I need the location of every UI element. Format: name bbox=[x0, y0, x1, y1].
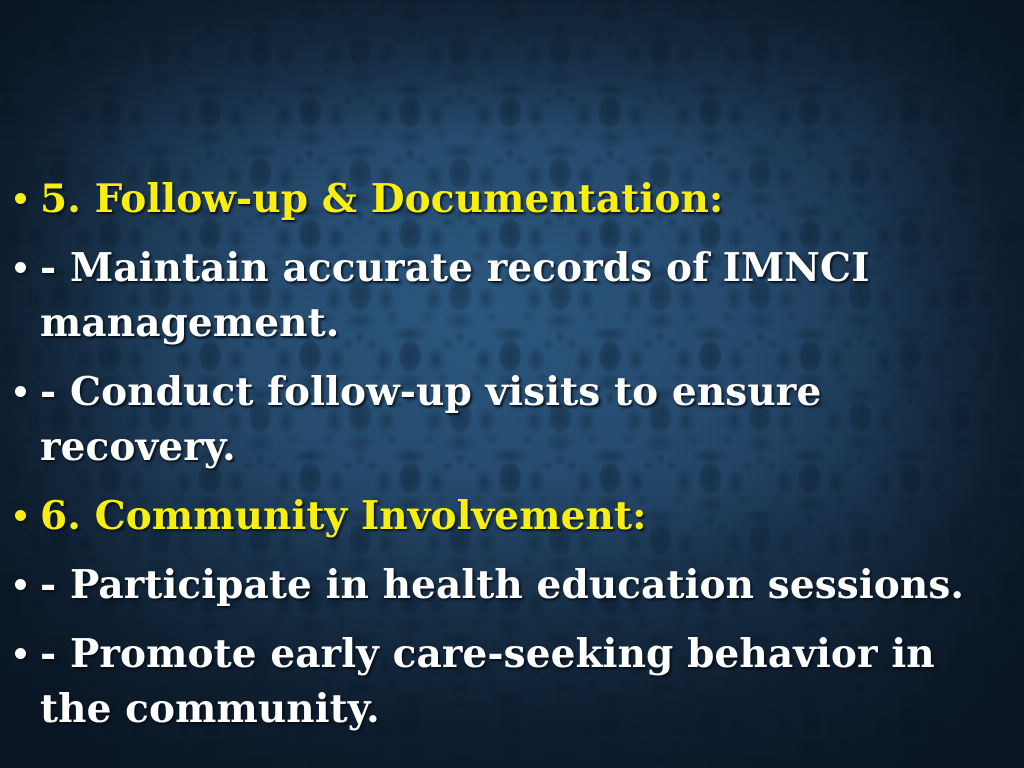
bullet-item-6: - Promote early care-seeking behavior in… bbox=[14, 627, 1014, 737]
bullet-item-2: - Maintain accurate records of IMNCI man… bbox=[14, 241, 1014, 351]
bullet-item-3: - Conduct follow-up visits to ensure rec… bbox=[14, 365, 1014, 475]
bullet-dot-icon bbox=[15, 386, 26, 397]
bullet-dot-icon bbox=[15, 193, 26, 204]
bullet-text: - Maintain accurate records of IMNCI man… bbox=[40, 245, 870, 346]
bullet-dot-icon bbox=[15, 510, 26, 521]
bullet-text: - Participate in health education sessio… bbox=[40, 562, 964, 608]
presentation-slide: 5. Follow-up & Documentation: - Maintain… bbox=[0, 0, 1024, 768]
bullet-text: - Promote early care-seeking behavior in… bbox=[40, 631, 935, 732]
bullet-dot-icon bbox=[15, 579, 26, 590]
bullet-dot-icon bbox=[15, 648, 26, 659]
bullet-text: 6. Community Involvement: bbox=[40, 493, 647, 539]
slide-body: 5. Follow-up & Documentation: - Maintain… bbox=[14, 172, 1014, 737]
bullet-dot-icon bbox=[15, 262, 26, 273]
bullet-text: 5. Follow-up & Documentation: bbox=[40, 176, 723, 222]
bullet-list: 5. Follow-up & Documentation: - Maintain… bbox=[14, 172, 1014, 737]
bullet-item-1: 5. Follow-up & Documentation: bbox=[14, 172, 1014, 227]
bullet-item-4: 6. Community Involvement: bbox=[14, 489, 1014, 544]
bullet-text: - Conduct follow-up visits to ensure rec… bbox=[40, 369, 821, 470]
bullet-item-5: - Participate in health education sessio… bbox=[14, 558, 1014, 613]
